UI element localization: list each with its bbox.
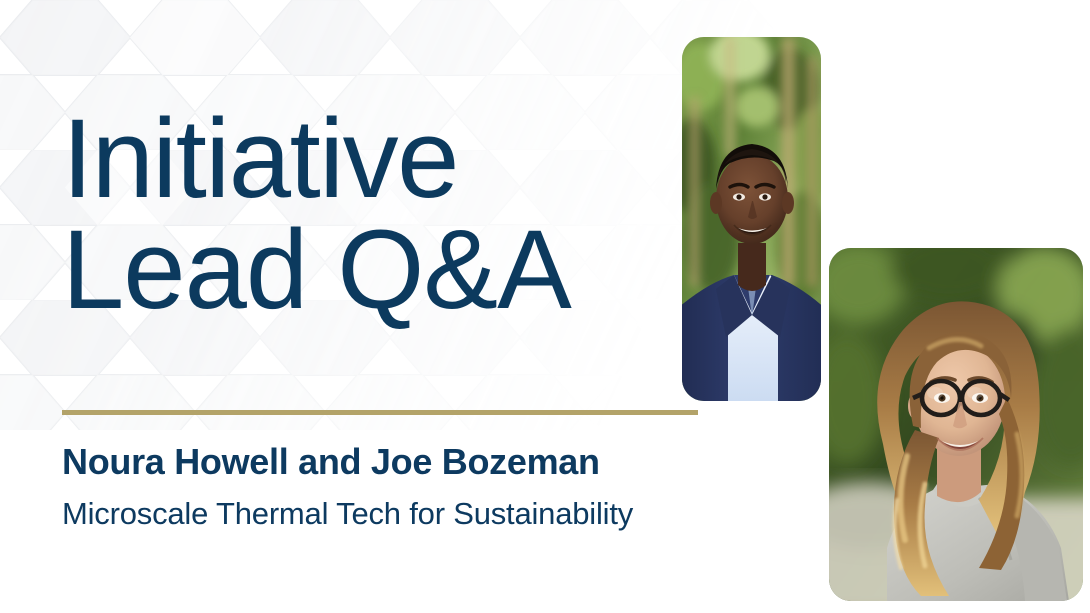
- portrait-photo-noura-howell: [829, 248, 1083, 601]
- presenter-names: Noura Howell and Joe Bozeman: [62, 441, 600, 483]
- presenter-topic: Microscale Thermal Tech for Sustainabili…: [62, 496, 633, 532]
- portrait-photo-joe-bozeman: [682, 37, 821, 401]
- title-line-2: Lead Q&A: [62, 215, 722, 326]
- gold-divider-rule: [62, 410, 698, 415]
- title-line-1: Initiative: [62, 104, 722, 215]
- page-title: Initiative Lead Q&A: [62, 104, 722, 326]
- slide-canvas: Initiative Lead Q&A Noura Howell and Joe…: [0, 0, 1090, 613]
